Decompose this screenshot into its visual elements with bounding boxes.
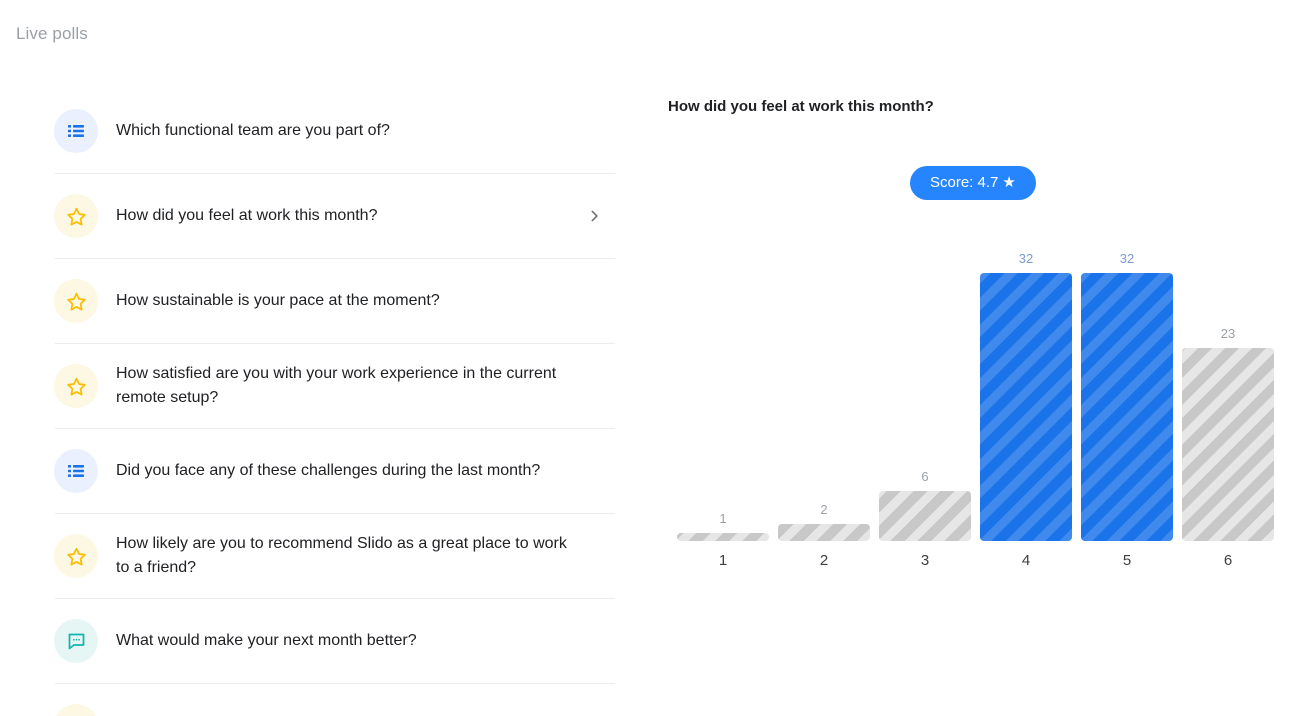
list-item[interactable] bbox=[55, 683, 615, 716]
x-axis-tick-label: 4 bbox=[980, 552, 1072, 569]
x-axis-tick-label: 1 bbox=[677, 552, 769, 569]
bar-value-label: 6 bbox=[921, 469, 928, 484]
bar-value-label: 1 bbox=[719, 511, 726, 526]
list-item-label: Did you face any of these challenges dur… bbox=[116, 459, 540, 483]
star-icon bbox=[54, 704, 98, 716]
x-axis-tick-label: 5 bbox=[1081, 552, 1173, 569]
score-badge-label: Score: 4.7 bbox=[930, 174, 998, 191]
list-item-label: What would make your next month better? bbox=[116, 629, 417, 653]
bar-column[interactable]: 23 bbox=[1182, 326, 1274, 541]
bar-value-label: 32 bbox=[1120, 251, 1134, 266]
speech-bubble-icon bbox=[54, 619, 98, 663]
chart-panel: How did you feel at work this month? Sco… bbox=[648, 0, 1300, 716]
x-axis-tick-label: 2 bbox=[778, 552, 870, 569]
list-icon bbox=[54, 449, 98, 493]
bar[interactable] bbox=[879, 491, 971, 541]
list-icon bbox=[54, 109, 98, 153]
list-item-label: How did you feel at work this month? bbox=[116, 204, 377, 228]
star-icon bbox=[54, 279, 98, 323]
star-icon bbox=[54, 534, 98, 578]
bar[interactable] bbox=[677, 533, 769, 541]
live-polls-screen: Live polls Which functional team are you… bbox=[0, 0, 1300, 716]
star-glyph-icon: ★ bbox=[1002, 174, 1015, 191]
list-item-label: How sustainable is your pace at the mome… bbox=[116, 289, 440, 313]
bar-column[interactable]: 6 bbox=[879, 469, 971, 541]
bar[interactable] bbox=[778, 524, 870, 541]
list-item-label: How satisfied are you with your work exp… bbox=[116, 362, 575, 410]
bar-value-label: 32 bbox=[1019, 251, 1033, 266]
bar-column[interactable]: 1 bbox=[677, 511, 769, 541]
bar-value-label: 23 bbox=[1221, 326, 1235, 341]
poll-list[interactable]: Which functional team are you part of? H… bbox=[0, 88, 640, 716]
x-axis-tick-label: 3 bbox=[879, 552, 971, 569]
bar-chart: 112263324325236 bbox=[668, 230, 1288, 575]
bar[interactable] bbox=[1182, 348, 1274, 541]
bar-column[interactable]: 32 bbox=[1081, 251, 1173, 541]
bar-value-label: 2 bbox=[820, 502, 827, 517]
list-item[interactable]: How did you feel at work this month? bbox=[55, 173, 615, 258]
bar[interactable] bbox=[980, 273, 1072, 541]
list-item[interactable]: Which functional team are you part of? bbox=[55, 88, 615, 173]
list-item[interactable]: Did you face any of these challenges dur… bbox=[55, 428, 615, 513]
list-item[interactable]: How sustainable is your pace at the mome… bbox=[55, 258, 615, 343]
list-item-label: How likely are you to recommend Slido as… bbox=[116, 532, 575, 580]
bar-column[interactable]: 2 bbox=[778, 502, 870, 541]
list-item[interactable]: How likely are you to recommend Slido as… bbox=[55, 513, 615, 598]
chart-title: How did you feel at work this month? bbox=[668, 98, 934, 115]
list-item-label: Which functional team are you part of? bbox=[116, 119, 390, 143]
star-icon bbox=[54, 194, 98, 238]
bar-column[interactable]: 32 bbox=[980, 251, 1072, 541]
star-icon bbox=[54, 364, 98, 408]
chevron-right-icon[interactable] bbox=[587, 209, 601, 223]
bar[interactable] bbox=[1081, 273, 1173, 541]
status-badge[interactable]: Score: 4.7★ bbox=[910, 166, 1036, 200]
x-axis-tick-label: 6 bbox=[1182, 552, 1274, 569]
page-title: Live polls bbox=[16, 24, 88, 44]
list-item[interactable]: How satisfied are you with your work exp… bbox=[55, 343, 615, 428]
list-item[interactable]: What would make your next month better? bbox=[55, 598, 615, 683]
